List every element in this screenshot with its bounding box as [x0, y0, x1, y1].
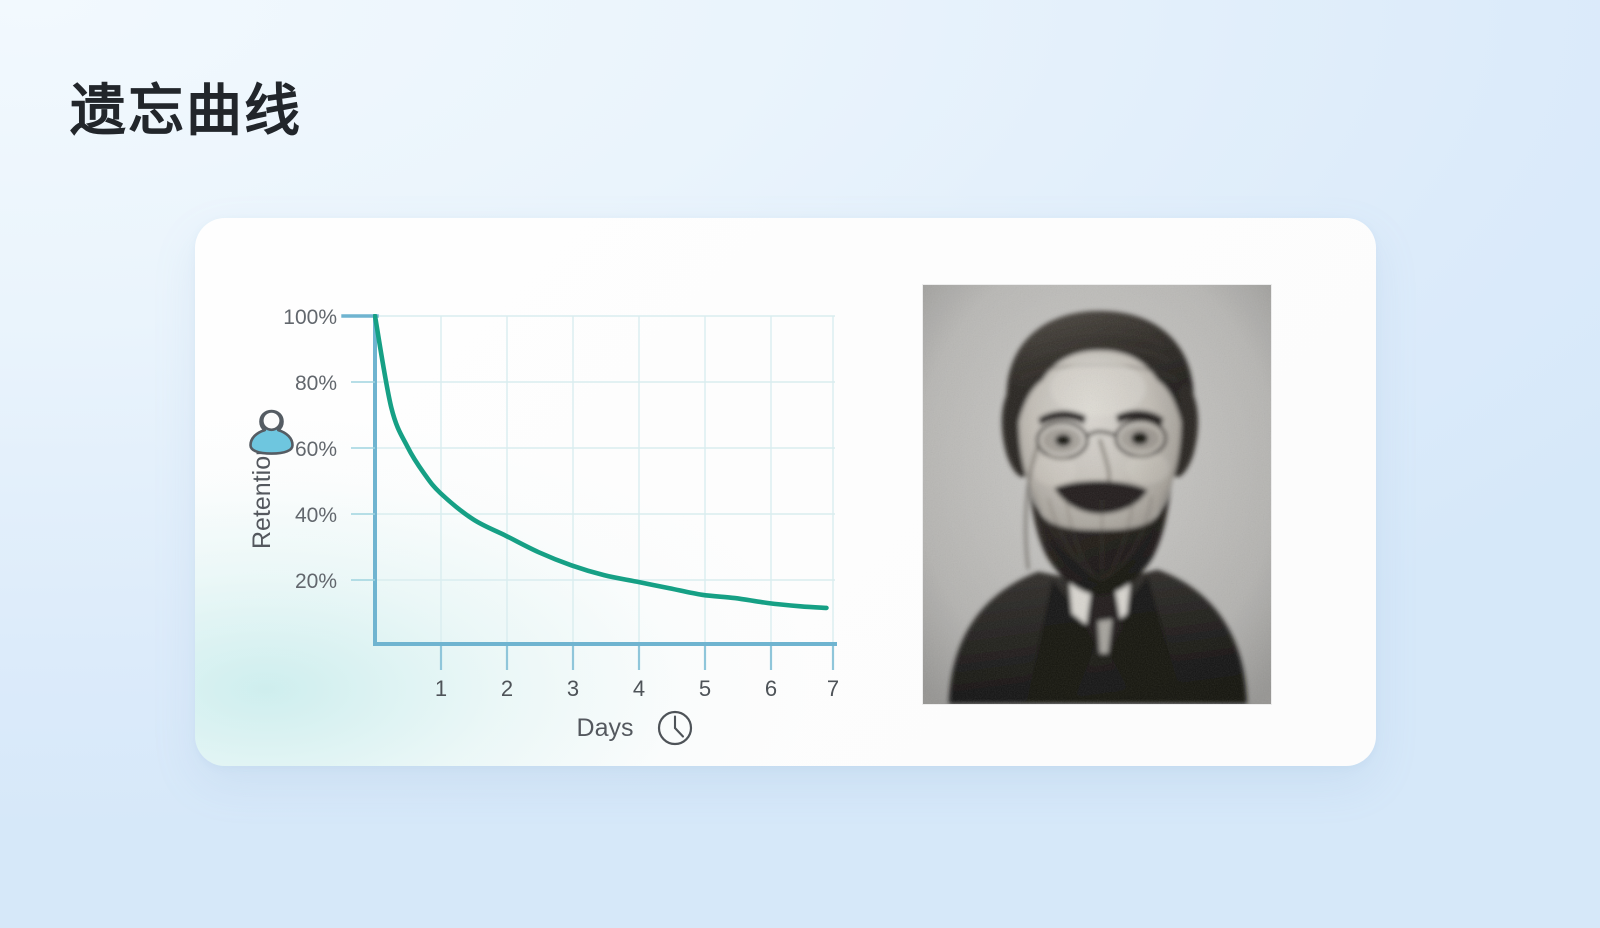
ebbinghaus-portrait	[923, 285, 1271, 704]
page-title: 遗忘曲线	[70, 80, 302, 142]
y-tick-marks	[351, 382, 375, 580]
portrait-tone	[923, 285, 1271, 704]
y-tick-label-20: 20%	[295, 570, 337, 593]
x-tick-label-5: 5	[699, 676, 711, 701]
chart-axes	[343, 316, 835, 644]
person-icon	[251, 411, 293, 454]
x-tick-label-6: 6	[765, 676, 777, 701]
x-tick-label-7: 7	[827, 676, 839, 701]
x-tick-label-4: 4	[633, 676, 645, 701]
clock-icon	[659, 712, 691, 744]
y-tick-label-40: 40%	[295, 504, 337, 527]
axis-lines	[375, 316, 835, 644]
x-tick-label-1: 1	[435, 676, 447, 701]
clock-icon-hour-hand	[675, 728, 683, 737]
forgetting-curve-line	[375, 316, 826, 608]
x-tick-label-2: 2	[501, 676, 513, 701]
y-tick-label-100: 100%	[283, 306, 337, 329]
chart-svg: 100% 80% 60% 40% 20% 1 2 3 4 5 6 7 Reten…	[195, 218, 895, 766]
forgetting-curve-chart: 100% 80% 60% 40% 20% 1 2 3 4 5 6 7 Reten…	[195, 218, 895, 766]
y-axis-label: Retention	[248, 442, 276, 549]
y-tick-label-80: 80%	[295, 372, 337, 395]
x-axis-label: Days	[577, 714, 634, 742]
content-card: 100% 80% 60% 40% 20% 1 2 3 4 5 6 7 Reten…	[195, 218, 1376, 766]
y-tick-label-60: 60%	[295, 438, 337, 461]
x-tick-label-3: 3	[567, 676, 579, 701]
portrait-frame	[922, 284, 1272, 705]
x-tick-marks	[441, 646, 833, 670]
person-icon-head	[262, 411, 280, 429]
chart-series-group	[375, 316, 826, 608]
chart-gridlines	[373, 316, 835, 644]
